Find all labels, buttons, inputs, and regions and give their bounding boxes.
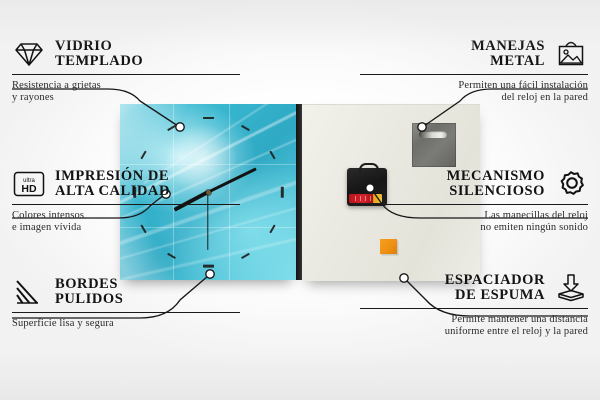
feature-title-line1: MANEJAS (471, 39, 545, 55)
feature-title-line1: IMPRESIÓN DE (55, 169, 170, 185)
feature-desc-line2: del reloj en la pared (360, 92, 588, 104)
orange-foam-spacer (380, 239, 397, 254)
clock-tick (203, 117, 214, 120)
gear-icon (554, 168, 588, 200)
feature-divider (360, 74, 588, 75)
ultra-hd-icon: ultra HD (12, 168, 46, 200)
feature-desc-line1: Las manecillas del reloj (360, 210, 588, 222)
feature-divider (360, 204, 588, 205)
feature-divider (12, 312, 240, 313)
feature-title-line2: METAL (471, 54, 545, 70)
feature-polished-edges: BORDES PULIDOS Superficie lisa y segura (12, 276, 240, 330)
clock-tick (167, 253, 176, 259)
feature-desc-line1: Permiten una fácil instalación (360, 80, 588, 92)
feature-desc-line1: Permite mantener una distancia (360, 314, 588, 326)
feature-desc-line2: y rayones (12, 92, 240, 104)
diamond-icon (12, 38, 46, 70)
infographic-canvas: VIDRIO TEMPLADO Resistencia a grietas y … (0, 0, 600, 400)
feature-foam-spacer: ESPACIADOR DE ESPUMA Permite mantener un… (360, 272, 588, 339)
hanger-keyhole-slot (419, 131, 446, 138)
feature-title-line2: TEMPLADO (55, 54, 143, 70)
feature-desc-line1: Colores intensos (12, 210, 240, 222)
feature-title-line1: BORDES (55, 277, 123, 293)
feature-hd-print: ultra HD IMPRESIÓN DE ALTA CALIDAD Color… (12, 168, 240, 235)
feature-silent-mechanism: MECANISMO SILENCIOSO Las manecillas del … (360, 168, 588, 235)
feature-title-line1: MECANISMO (447, 169, 545, 185)
feature-divider (12, 204, 240, 205)
clock-tick (269, 151, 275, 160)
feature-title-line2: DE ESPUMA (445, 288, 545, 304)
clock-tick (281, 186, 284, 197)
wall-frame-icon (554, 38, 588, 70)
feature-title-line2: PULIDOS (55, 292, 123, 308)
polished-edges-icon (12, 276, 46, 308)
feature-title-line1: VIDRIO (55, 39, 143, 55)
feature-desc-line2: e imagen vívida (12, 222, 240, 234)
feature-desc-line1: Superficie lisa y segura (12, 318, 240, 330)
ultra-hd-big-label: HD (21, 183, 37, 195)
feature-title-line2: SILENCIOSO (447, 184, 545, 200)
feature-desc-line2: no emiten ningún sonido (360, 222, 588, 234)
clock-tick (241, 253, 250, 259)
feature-tempered-glass: VIDRIO TEMPLADO Resistencia a grietas y … (12, 38, 240, 105)
metal-hanger-plate (412, 123, 456, 167)
clock-tick (141, 151, 147, 160)
feature-divider (12, 74, 240, 75)
clock-tick (269, 225, 275, 234)
clock-tick (167, 125, 176, 131)
feature-desc-line1: Resistencia a grietas (12, 80, 240, 92)
foam-spacer-icon (554, 272, 588, 304)
feature-title-line1: ESPACIADOR (445, 273, 545, 289)
feature-title-line2: ALTA CALIDAD (55, 184, 170, 200)
feature-divider (360, 308, 588, 309)
clock-tick (203, 265, 214, 268)
feature-desc-line2: uniforme entre el reloj y la pared (360, 326, 588, 338)
feature-metal-hangers: MANEJAS METAL Permiten una fácil instala… (360, 38, 588, 105)
clock-tick (241, 125, 250, 131)
